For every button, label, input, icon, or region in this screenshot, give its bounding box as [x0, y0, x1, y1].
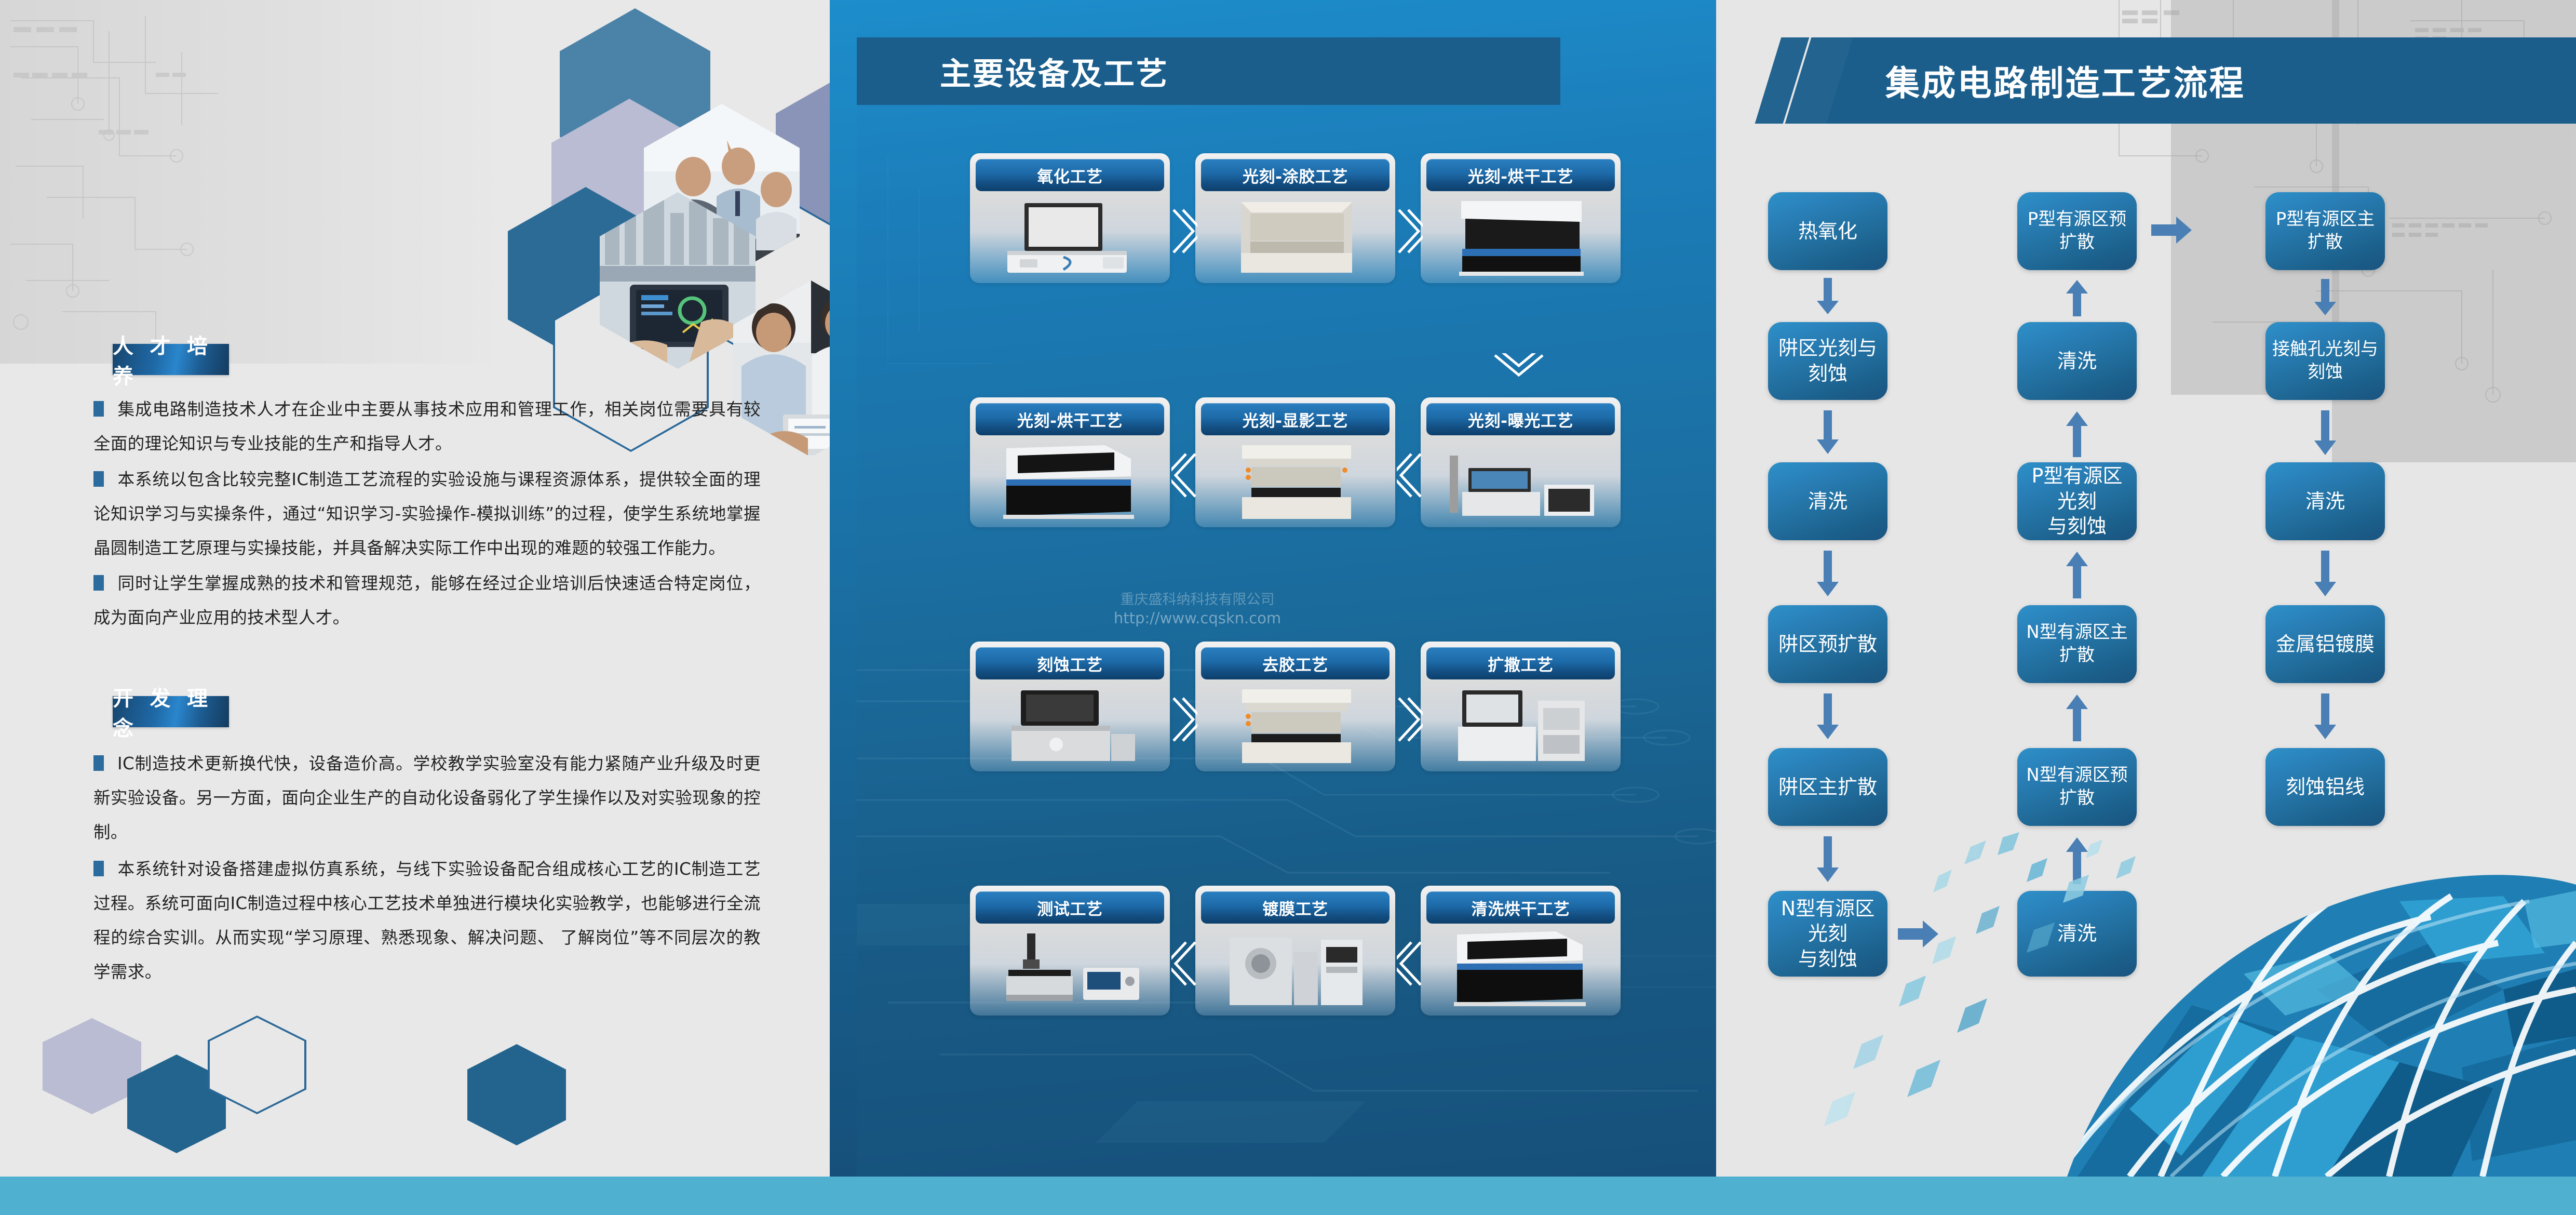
chevron-right-icon — [1171, 208, 1197, 255]
bullet-marker-icon — [93, 755, 104, 771]
hexagon-outline-decor-bottom — [208, 1016, 306, 1114]
flow-box-label: 热氧化 — [1798, 219, 1857, 244]
equipment-card-label: 氧化工艺 — [976, 159, 1164, 191]
equipment-photo — [1201, 686, 1390, 766]
equipment-photo — [975, 930, 1165, 1010]
equipment-card[interactable]: 去胶工艺 — [1195, 642, 1395, 771]
flow-box[interactable]: P型有源区预扩散 — [2017, 192, 2137, 270]
paragraph-text: IC制造技术更新换代快，设备造价高。学校教学实验室没有能力紧随产业升级及时更新实… — [93, 754, 761, 842]
equipment-photo — [975, 442, 1165, 522]
flow-box-label: 阱区光刻与刻蚀 — [1773, 336, 1882, 386]
tablet-factory-photo — [600, 192, 756, 369]
equipment-card[interactable]: 镀膜工艺 — [1195, 886, 1395, 1016]
chevron-right-icon — [1171, 696, 1197, 743]
hexagon-decor-bottom-lavender — [43, 1018, 141, 1114]
right-panel-header: 集成电路制造工艺流程 — [1818, 37, 2576, 124]
equipment-card[interactable]: 光刻-烘干工艺 — [1421, 153, 1621, 283]
equipment-card-label: 光刻-烘干工艺 — [1426, 159, 1615, 191]
flow-box-label: N型有源区主扩散 — [2022, 621, 2132, 666]
chevron-down-icon — [1493, 353, 1545, 383]
equipment-card[interactable]: 扩撒工艺 — [1421, 642, 1621, 771]
right-panel: 集成电路制造工艺流程 热氧化 阱区光刻与刻蚀 清洗 阱区预扩散 阱区主扩散 N型… — [1716, 0, 2576, 1177]
equipment-photo — [1426, 930, 1615, 1010]
flow-box-label: P型有源区主扩散 — [2271, 208, 2380, 253]
arrow-down-icon — [1816, 410, 1840, 455]
equipment-photo — [1201, 198, 1390, 278]
flow-box[interactable]: 阱区光刻与刻蚀 — [1768, 322, 1887, 400]
equipment-card-label: 清洗烘干工艺 — [1426, 891, 1615, 924]
equipment-card[interactable]: 光刻-曝光工艺 — [1421, 397, 1621, 527]
arrow-right-icon — [2151, 216, 2193, 245]
left-panel: 人 才 培 养 集成电路制造技术人才在企业中主要从事技术应用和管理工作，相关岗位… — [0, 0, 857, 1177]
bullet-marker-icon — [93, 575, 104, 591]
equipment-photo — [1426, 442, 1615, 522]
paragraph-text: 集成电路制造技术人才在企业中主要从事技术应用和管理工作，相关岗位需要具有较全面的… — [93, 399, 761, 453]
flow-box-label: 清洗 — [2305, 489, 2345, 514]
middle-panel: 主要设备及工艺 氧化工艺 光刻-涂胶工艺 — [857, 0, 1716, 1177]
arrow-down-icon — [1816, 551, 1840, 597]
chevron-right-icon — [1397, 208, 1423, 255]
flow-box[interactable]: 金属铝镀膜 — [2265, 605, 2385, 683]
flow-box-label: 接触孔光刻与刻蚀 — [2271, 338, 2380, 383]
paragraph-philosophy-1: IC制造技术更新换代快，设备造价高。学校教学实验室没有能力紧随产业升级及时更新实… — [93, 746, 761, 849]
section-tag-talent-development: 人 才 培 养 — [113, 344, 229, 375]
arrow-up-icon — [2065, 410, 2089, 457]
equipment-photo — [1201, 930, 1390, 1010]
paragraph-talent-1: 集成电路制造技术人才在企业中主要从事技术应用和管理工作，相关岗位需要具有较全面的… — [93, 392, 761, 461]
equipment-card[interactable]: 光刻-烘干工艺 — [970, 397, 1170, 527]
equipment-photo — [1426, 198, 1615, 278]
equipment-card[interactable]: 测试工艺 — [970, 886, 1170, 1016]
arrow-down-icon — [1816, 278, 1840, 315]
section-tag-development-philosophy: 开 发 理 念 — [113, 696, 229, 727]
bullet-marker-icon — [93, 401, 104, 417]
flow-box-label: 清洗 — [2057, 349, 2097, 374]
equipment-card-label: 光刻-曝光工艺 — [1426, 403, 1615, 435]
equipment-card-label: 光刻-烘干工艺 — [976, 403, 1164, 435]
flow-box-label: P型有源区光刻 与刻蚀 — [2022, 463, 2132, 539]
globe-mesh-decoration — [2005, 745, 2576, 1177]
equipment-photo — [1201, 442, 1390, 522]
flow-box-label: 清洗 — [1808, 489, 1847, 514]
flow-box[interactable]: 阱区主扩散 — [1768, 748, 1887, 826]
chevron-right-icon — [1397, 696, 1423, 743]
bottom-accent-bar — [0, 1177, 2576, 1215]
paragraph-talent-3: 同时让学生掌握成熟的技术和管理规范，能够在经过企业培训后快速适合特定岗位，成为面… — [93, 566, 761, 635]
middle-panel-header-label: 主要设备及工艺 — [940, 49, 1169, 94]
paragraph-text: 本系统针对设备搭建虚拟仿真系统，与线下实验设备配合组成核心工艺的IC制造工艺过程… — [93, 859, 761, 982]
chevron-left-icon — [1171, 940, 1197, 987]
arrow-up-icon — [2065, 279, 2089, 316]
bullet-marker-icon — [93, 861, 104, 876]
flow-box-label: P型有源区预扩散 — [2022, 208, 2132, 253]
flow-box[interactable]: 清洗 — [2265, 462, 2385, 540]
chevron-left-icon — [1397, 452, 1423, 499]
section-tag-label: 开 发 理 念 — [113, 682, 229, 742]
equipment-photo — [975, 686, 1165, 766]
flow-box-label: 金属铝镀膜 — [2276, 632, 2375, 657]
equipment-photo — [975, 198, 1165, 278]
arrow-down-icon — [2313, 693, 2337, 740]
right-panel-header-label: 集成电路制造工艺流程 — [1885, 56, 2245, 105]
left-panel-edge-strip — [830, 0, 857, 1177]
arrow-up-icon — [2065, 551, 2089, 598]
section-tag-label: 人 才 培 养 — [113, 329, 229, 390]
flow-box[interactable]: 热氧化 — [1768, 192, 1887, 270]
flow-box[interactable]: 阱区预扩散 — [1768, 605, 1887, 683]
equipment-card[interactable]: 氧化工艺 — [970, 153, 1170, 283]
chevron-left-icon — [1397, 940, 1423, 987]
equipment-card[interactable]: 光刻-显影工艺 — [1195, 397, 1395, 527]
equipment-card[interactable]: 刻蚀工艺 — [970, 642, 1170, 771]
equipment-card-label: 扩撒工艺 — [1426, 647, 1615, 679]
paragraph-text: 同时让学生掌握成熟的技术和管理规范，能够在经过企业培训后快速适合特定岗位，成为面… — [93, 573, 761, 627]
flow-box[interactable]: 接触孔光刻与刻蚀 — [2265, 322, 2385, 400]
equipment-card-label: 光刻-涂胶工艺 — [1201, 159, 1390, 191]
bullet-marker-icon — [93, 471, 104, 487]
poster-root: 人 才 培 养 集成电路制造技术人才在企业中主要从事技术应用和管理工作，相关岗位… — [0, 0, 2576, 1215]
equipment-card[interactable]: 清洗烘干工艺 — [1421, 886, 1621, 1016]
paragraph-philosophy-2: 本系统针对设备搭建虚拟仿真系统，与线下实验设备配合组成核心工艺的IC制造工艺过程… — [93, 852, 761, 989]
arrow-down-icon — [2313, 410, 2337, 456]
equipment-photo — [1426, 686, 1615, 766]
arrow-down-icon — [1816, 693, 1840, 740]
equipment-card[interactable]: 光刻-涂胶工艺 — [1195, 153, 1395, 283]
equipment-card-label: 光刻-显影工艺 — [1201, 403, 1390, 435]
equipment-card-label: 镀膜工艺 — [1201, 891, 1390, 924]
equipment-card-label: 刻蚀工艺 — [976, 647, 1164, 679]
arrow-down-icon — [2313, 551, 2337, 597]
flow-box[interactable]: P型有源区光刻 与刻蚀 — [2017, 462, 2137, 540]
chevron-left-icon — [1171, 452, 1197, 499]
equipment-card-label: 测试工艺 — [976, 891, 1164, 924]
flow-box-label: 阱区主扩散 — [1778, 775, 1877, 800]
paragraph-talent-2: 本系统以包含比较完整IC制造工艺流程的实验设施与课程资源体系，提供较全面的理论知… — [93, 462, 761, 565]
flow-box[interactable]: 清洗 — [2017, 322, 2137, 400]
arrow-down-icon — [2313, 279, 2337, 316]
flow-box-label: 阱区预扩散 — [1778, 632, 1877, 657]
arrow-up-icon — [2065, 693, 2089, 741]
flow-box[interactable]: N型有源区主扩散 — [2017, 605, 2137, 683]
paragraph-text: 本系统以包含比较完整IC制造工艺流程的实验设施与课程资源体系，提供较全面的理论知… — [93, 470, 761, 558]
flow-box[interactable]: P型有源区主扩散 — [2265, 192, 2385, 270]
equipment-card-label: 去胶工艺 — [1201, 647, 1390, 679]
hexagon-decor-bottom-solid — [467, 1044, 566, 1145]
circuit-trace-pattern-icon — [0, 0, 509, 364]
flow-box[interactable]: 清洗 — [1768, 462, 1887, 540]
